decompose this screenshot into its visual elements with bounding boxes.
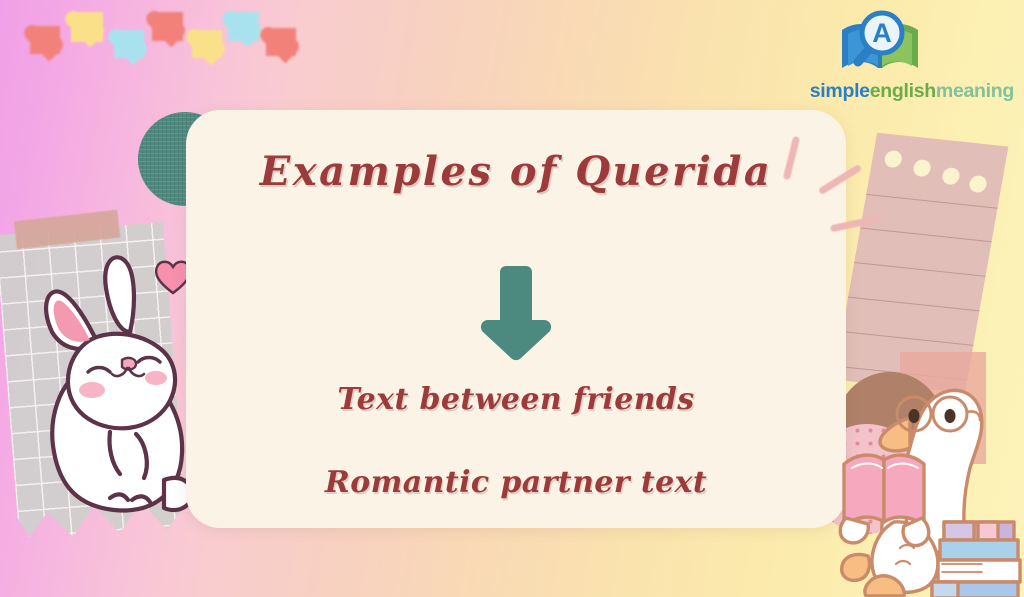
book-magnifier-a-icon: A [838, 8, 922, 80]
logo-wordmark: simpleenglishmeaning [806, 80, 1014, 103]
body-line-romantic: Romantic partner text [186, 465, 846, 500]
content-card: Examples of Querida Text between friends… [186, 110, 846, 528]
logo-word-english: english [870, 80, 936, 102]
notepad-rule [854, 262, 985, 277]
heart-1 [30, 26, 60, 54]
logo-letter: A [872, 18, 892, 48]
logo-word-meaning: meaning [936, 80, 1014, 102]
notepad-hole [883, 150, 903, 169]
hearts-decoration [4, 4, 274, 68]
notepad-hole [941, 167, 961, 186]
notepad-rule [842, 331, 973, 346]
notepad-rule [866, 194, 997, 209]
notepad-rule [860, 227, 991, 242]
notepad-hole [968, 175, 988, 194]
down-arrow-icon [479, 260, 553, 366]
spark-lines-decoration [742, 132, 872, 242]
notepad-hole [912, 159, 932, 178]
heart-7 [266, 28, 296, 56]
logo-word-simple: simple [810, 80, 870, 102]
heart-3 [114, 30, 144, 58]
heart-6 [228, 12, 259, 41]
goose-reading-illustration [822, 368, 1022, 597]
heart-5 [192, 30, 222, 58]
heart-4 [152, 12, 183, 41]
spark-line-2 [818, 164, 862, 195]
poster-canvas: Examples of Querida Text between friends… [0, 0, 1024, 597]
body-line-friends: Text between friends [186, 382, 846, 417]
heart-2 [71, 12, 103, 42]
spark-line-1 [783, 136, 800, 180]
brand-logo[interactable]: A simpleenglishmeaning [806, 8, 1018, 108]
notepad-rule [848, 297, 979, 312]
